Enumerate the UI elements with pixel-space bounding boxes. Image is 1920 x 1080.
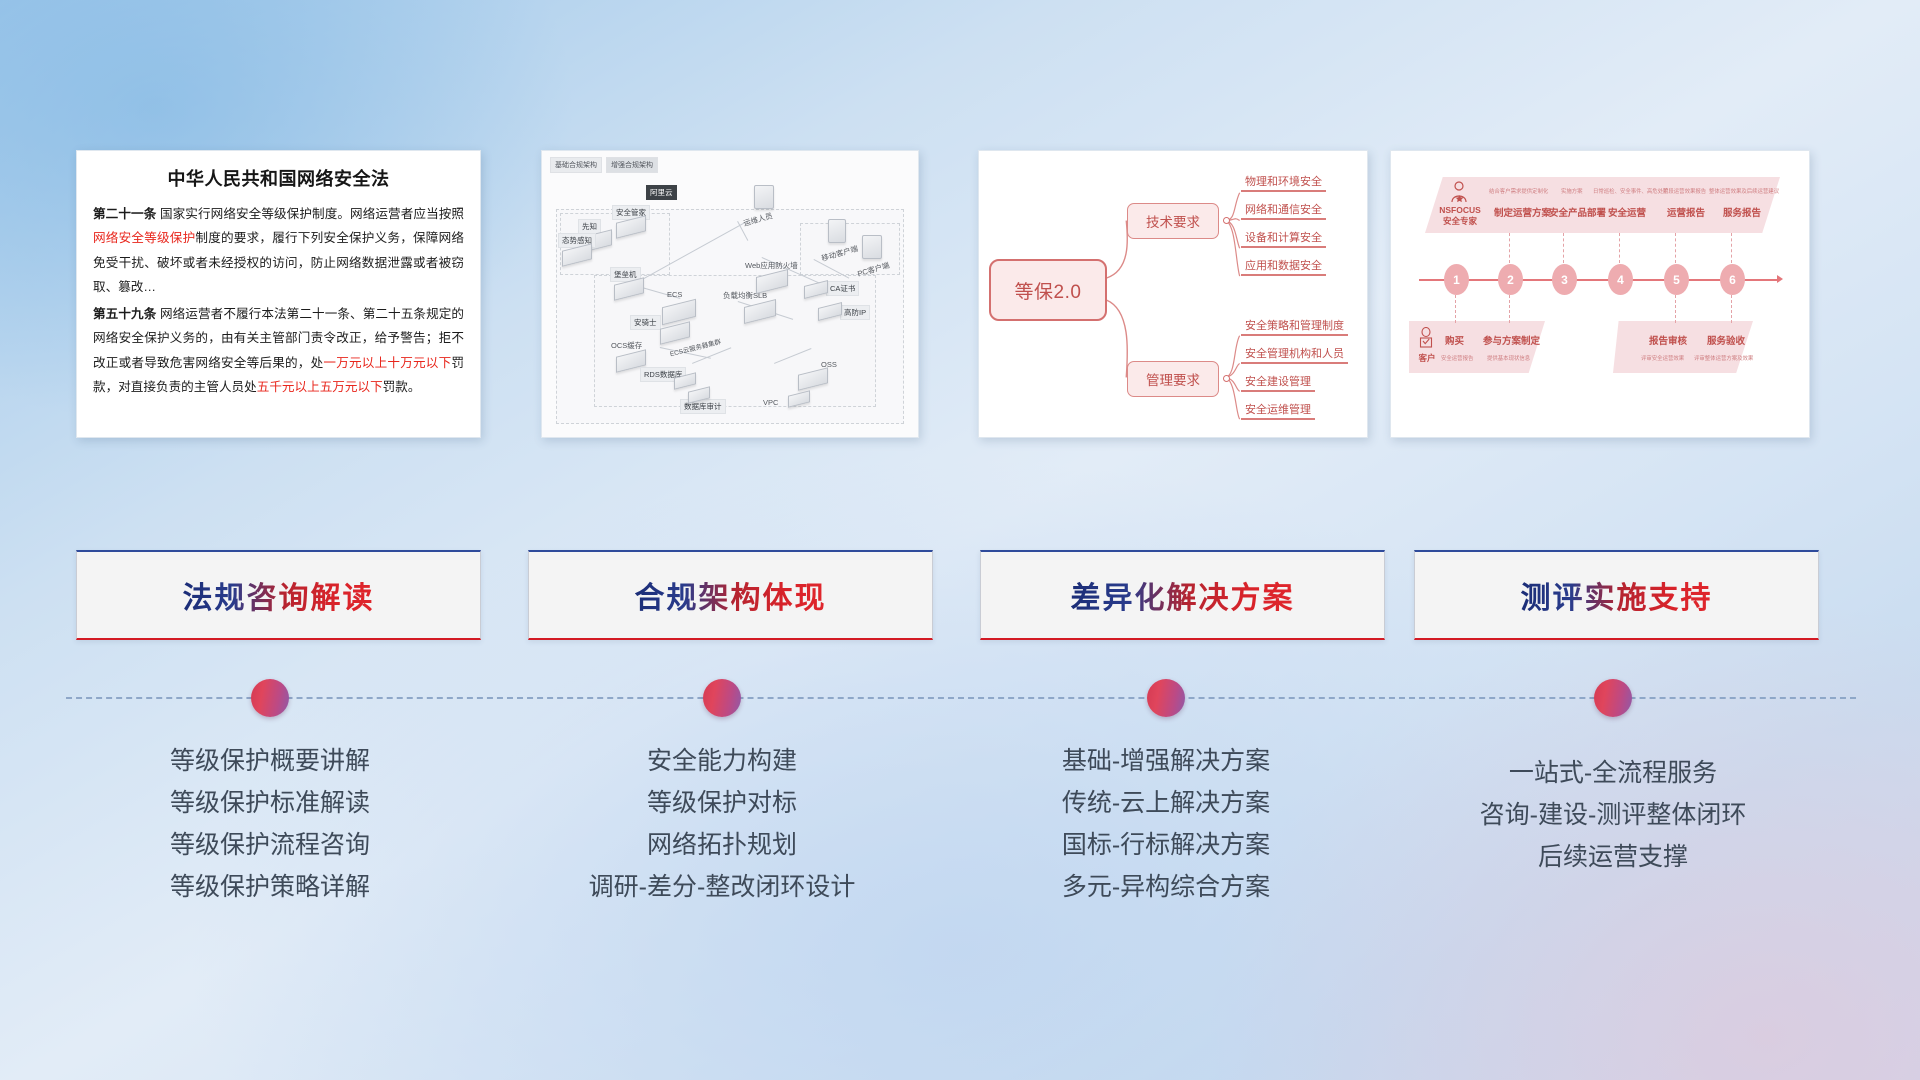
list-item: 多元-异构综合方案	[940, 866, 1392, 908]
law-run-2-4: 罚款。	[383, 380, 421, 394]
list-item: 咨询-建设-测评整体闭环	[1387, 794, 1839, 836]
timeline-node-3[interactable]: 3	[1552, 264, 1577, 295]
list-item: 等级保护标准解读	[44, 782, 496, 824]
top-sub-4: 阶段运营效果报告	[1663, 187, 1706, 195]
law-body: 中华人民共和国网络安全法 第二十一条 国家实行网络安全等级保护制度。网络运营者应…	[77, 151, 480, 412]
top-label-5: 服务报告	[1723, 205, 1761, 219]
section-pill-1[interactable]: 法规咨询解读	[76, 550, 481, 640]
mindmap-leaf-t2: 网络和通信安全	[1241, 201, 1326, 220]
mindmap-leaf-m3: 安全建设管理	[1241, 373, 1315, 392]
section-list-2: 安全能力构建 等级保护对标 网络拓扑规划 调研-差分-整改闭环设计	[496, 740, 948, 908]
node-anqishi-label: 安骑士	[630, 315, 661, 330]
nsfocus-timeline-card[interactable]: NSFOCUS 安全专家 结合客户需求提供定制化 制定运营方案 实施方案 安全产…	[1390, 150, 1810, 438]
list-item: 基础-增强解决方案	[940, 740, 1392, 782]
law-article-2: 第五十九条	[93, 307, 156, 321]
node-ca-certificate: CA证书	[804, 281, 828, 296]
node-slb: 负载均衡SLB	[720, 291, 776, 320]
timeline-arrow-icon	[1777, 275, 1783, 283]
node-rds-database: RDS数据库	[640, 367, 696, 387]
expert-brand-line2: 安全专家	[1435, 216, 1485, 227]
section-title-1: 法规咨询解读	[183, 573, 375, 617]
law-run-2-3: 五千元以上五万元以下	[257, 380, 383, 394]
mindmap-card[interactable]: 等保2.0 技术要求 物理和环境安全 网络和通信安全 设备和计算安全 应用和数据…	[978, 150, 1368, 438]
law-paragraph-2: 第五十九条 网络运营者不履行本法第二十一条、第二十五条规定的网络安全保护义务的，…	[93, 302, 464, 399]
mindmap-dot-management	[1223, 375, 1230, 382]
timeline-marker-1[interactable]	[251, 679, 289, 717]
expert-person-icon	[1449, 181, 1469, 203]
node-aliyun-label: 阿里云	[646, 185, 677, 200]
list-item: 一站式-全流程服务	[1387, 752, 1839, 794]
top-sub-5: 整体运营效果及后续运营建议	[1709, 187, 1779, 195]
timeline-marker-4[interactable]	[1594, 679, 1632, 717]
bottom-sub-2: 提供基本现状信息	[1487, 354, 1530, 362]
section-list-1: 等级保护概要讲解 等级保护标准解读 等级保护流程咨询 等级保护策略详解	[44, 740, 496, 908]
node-database-audit-label: 数据库审计	[680, 399, 726, 414]
law-article-1: 第二十一条	[93, 207, 156, 221]
timeline-node-6[interactable]: 6	[1720, 264, 1745, 295]
node-mobile-client: 移动客户端	[820, 219, 846, 243]
list-item: 调研-差分-整改闭环设计	[496, 866, 948, 908]
law-paragraph-1: 第二十一条 国家实行网络安全等级保护制度。网络运营者应当按照网络安全等级保护制度…	[93, 202, 464, 299]
tick-1-down	[1455, 295, 1456, 323]
list-item: 安全能力构建	[496, 740, 948, 782]
tab-enhanced-architecture[interactable]: 增强合规架构	[606, 157, 658, 173]
node-waf: Web应用防火墙	[742, 261, 788, 290]
cloud-architecture-card[interactable]: 基础合规架构 增强合规架构 阿里云	[541, 150, 919, 438]
customer-label: 客户	[1415, 353, 1439, 364]
mindmap-root: 等保2.0	[989, 259, 1107, 321]
node-anti-ddos-ip-label: 高防IP	[840, 305, 870, 320]
list-item: 后续运营支撑	[1387, 836, 1839, 878]
timeline-marker-3[interactable]	[1147, 679, 1185, 717]
node-ecs-label: ECS	[664, 289, 685, 300]
node-database-audit: 数据库审计	[680, 389, 710, 401]
tick-2	[1509, 233, 1510, 263]
node-ca-certificate-label: CA证书	[826, 281, 859, 296]
tick-3	[1563, 233, 1564, 263]
timeline-node-2[interactable]: 2	[1498, 264, 1523, 295]
bottom-label-2: 参与方案制定	[1483, 333, 1540, 347]
section-pill-2[interactable]: 合规架构体现	[528, 550, 933, 640]
mindmap-leaf-m2: 安全管理机构和人员	[1241, 345, 1348, 364]
timeline-node-5[interactable]: 5	[1664, 264, 1689, 295]
mindmap-branch-management: 管理要求	[1127, 361, 1219, 397]
node-anqishi: 安骑士	[630, 315, 690, 341]
mindmap: 等保2.0 技术要求 物理和环境安全 网络和通信安全 设备和计算安全 应用和数据…	[979, 151, 1367, 437]
mindmap-dot-technical	[1223, 217, 1230, 224]
node-waf-label: Web应用防火墙	[742, 259, 801, 272]
node-anti-ddos-ip: 高防IP	[818, 303, 842, 318]
screenshot-cards-row: 中华人民共和国网络安全法 第二十一条 国家实行网络安全等级保护制度。网络运营者应…	[0, 150, 1920, 440]
top-sub-1: 结合客户需求提供定制化	[1489, 187, 1548, 195]
node-ocs-cache: OCS缓存	[608, 341, 646, 369]
mindmap-leaf-m4: 安全运维管理	[1241, 401, 1315, 420]
expert-brand-line1: NSFOCUS	[1435, 205, 1485, 216]
node-ops-staff: 运维人员	[740, 185, 774, 209]
bottom-sub-5: 评审安全运营效果	[1641, 354, 1684, 362]
mindmap-leaf-t1: 物理和环境安全	[1241, 173, 1326, 192]
nsfocus-timeline: NSFOCUS 安全专家 结合客户需求提供定制化 制定运营方案 实施方案 安全产…	[1391, 151, 1809, 437]
list-item: 传统-云上解决方案	[940, 782, 1392, 824]
tab-basic-architecture[interactable]: 基础合规架构	[550, 157, 602, 173]
node-vpc-label: VPC	[760, 397, 781, 408]
law-title: 中华人民共和国网络安全法	[93, 165, 464, 191]
law-run-1-1: 网络安全等级保护	[93, 231, 195, 245]
mindmap-leaf-t4: 应用和数据安全	[1241, 257, 1326, 276]
timeline-node-4[interactable]: 4	[1608, 264, 1633, 295]
bottom-label-6: 服务验收	[1707, 333, 1745, 347]
customer-person-icon	[1417, 327, 1435, 351]
list-item: 网络拓扑规划	[496, 824, 948, 866]
tick-5-down	[1675, 295, 1676, 323]
timeline-dashed-line	[66, 697, 1856, 699]
node-vpc: VPC	[760, 395, 810, 405]
section-pill-4[interactable]: 测评实施支持	[1414, 550, 1819, 640]
node-bastion-host: 堡垒机	[608, 269, 644, 297]
section-pill-3[interactable]: 差异化解决方案	[980, 550, 1385, 640]
list-item: 等级保护策略详解	[44, 866, 496, 908]
list-item: 等级保护概要讲解	[44, 740, 496, 782]
top-label-2: 安全产品部署	[1549, 205, 1606, 219]
node-security-housekeeper: 安全管家	[610, 207, 646, 235]
tick-2-down	[1509, 295, 1510, 323]
section-title-2: 合规架构体现	[635, 573, 827, 617]
tick-5	[1675, 233, 1676, 263]
timeline-node-1[interactable]: 1	[1444, 264, 1469, 295]
architecture-diagram: 基础合规架构 增强合规架构 阿里云	[542, 151, 918, 437]
node-oss: OSS	[796, 361, 828, 387]
mindmap-branch-technical: 技术要求	[1127, 203, 1219, 239]
bottom-label-5: 报告审核	[1649, 333, 1687, 347]
node-situational-awareness: 态势感知	[556, 235, 592, 263]
section-title-3: 差异化解决方案	[1071, 573, 1295, 617]
law-run-2-1: 一万元以上十万元以下	[323, 356, 451, 370]
top-sub-2: 实施方案	[1561, 187, 1583, 195]
section-list-4: 一站式-全流程服务 咨询-建设-测评整体闭环 后续运营支撑	[1387, 752, 1839, 878]
section-title-4: 测评实施支持	[1521, 573, 1713, 617]
law-card[interactable]: 中华人民共和国网络安全法 第二十一条 国家实行网络安全等级保护制度。网络运营者应…	[76, 150, 481, 438]
bottom-sub-1: 安全运营报告	[1441, 354, 1473, 362]
tick-6-down	[1731, 295, 1732, 323]
node-pc-client: PC客户端	[854, 235, 882, 259]
slide-canvas: 中华人民共和国网络安全法 第二十一条 国家实行网络安全等级保护制度。网络运营者应…	[0, 0, 1920, 1080]
list-item: 国标-行标解决方案	[940, 824, 1392, 866]
mindmap-leaf-t3: 设备和计算安全	[1241, 229, 1326, 248]
top-label-1: 制定运营方案	[1494, 205, 1551, 219]
top-label-3: 安全运营	[1608, 205, 1646, 219]
list-item: 等级保护对标	[496, 782, 948, 824]
section-list-3: 基础-增强解决方案 传统-云上解决方案 国标-行标解决方案 多元-异构综合方案	[940, 740, 1392, 908]
tick-4	[1619, 233, 1620, 263]
band-customer-right	[1613, 321, 1753, 373]
top-label-4: 运营报告	[1667, 205, 1705, 219]
tick-6	[1731, 233, 1732, 263]
mindmap-leaf-m1: 安全策略和管理制度	[1241, 317, 1348, 336]
bottom-label-1: 购买	[1445, 333, 1464, 347]
top-sub-3: 日常巡检、安全事件、高危处置	[1593, 187, 1668, 195]
law-run-1-0: 国家实行网络安全等级保护制度。网络运营者应当按照	[156, 207, 464, 221]
timeline-marker-2[interactable]	[703, 679, 741, 717]
list-item: 等级保护流程咨询	[44, 824, 496, 866]
architecture-tabs[interactable]: 基础合规架构 增强合规架构	[550, 157, 658, 173]
bottom-sub-6: 评审整体运营方案及效果	[1694, 354, 1753, 362]
